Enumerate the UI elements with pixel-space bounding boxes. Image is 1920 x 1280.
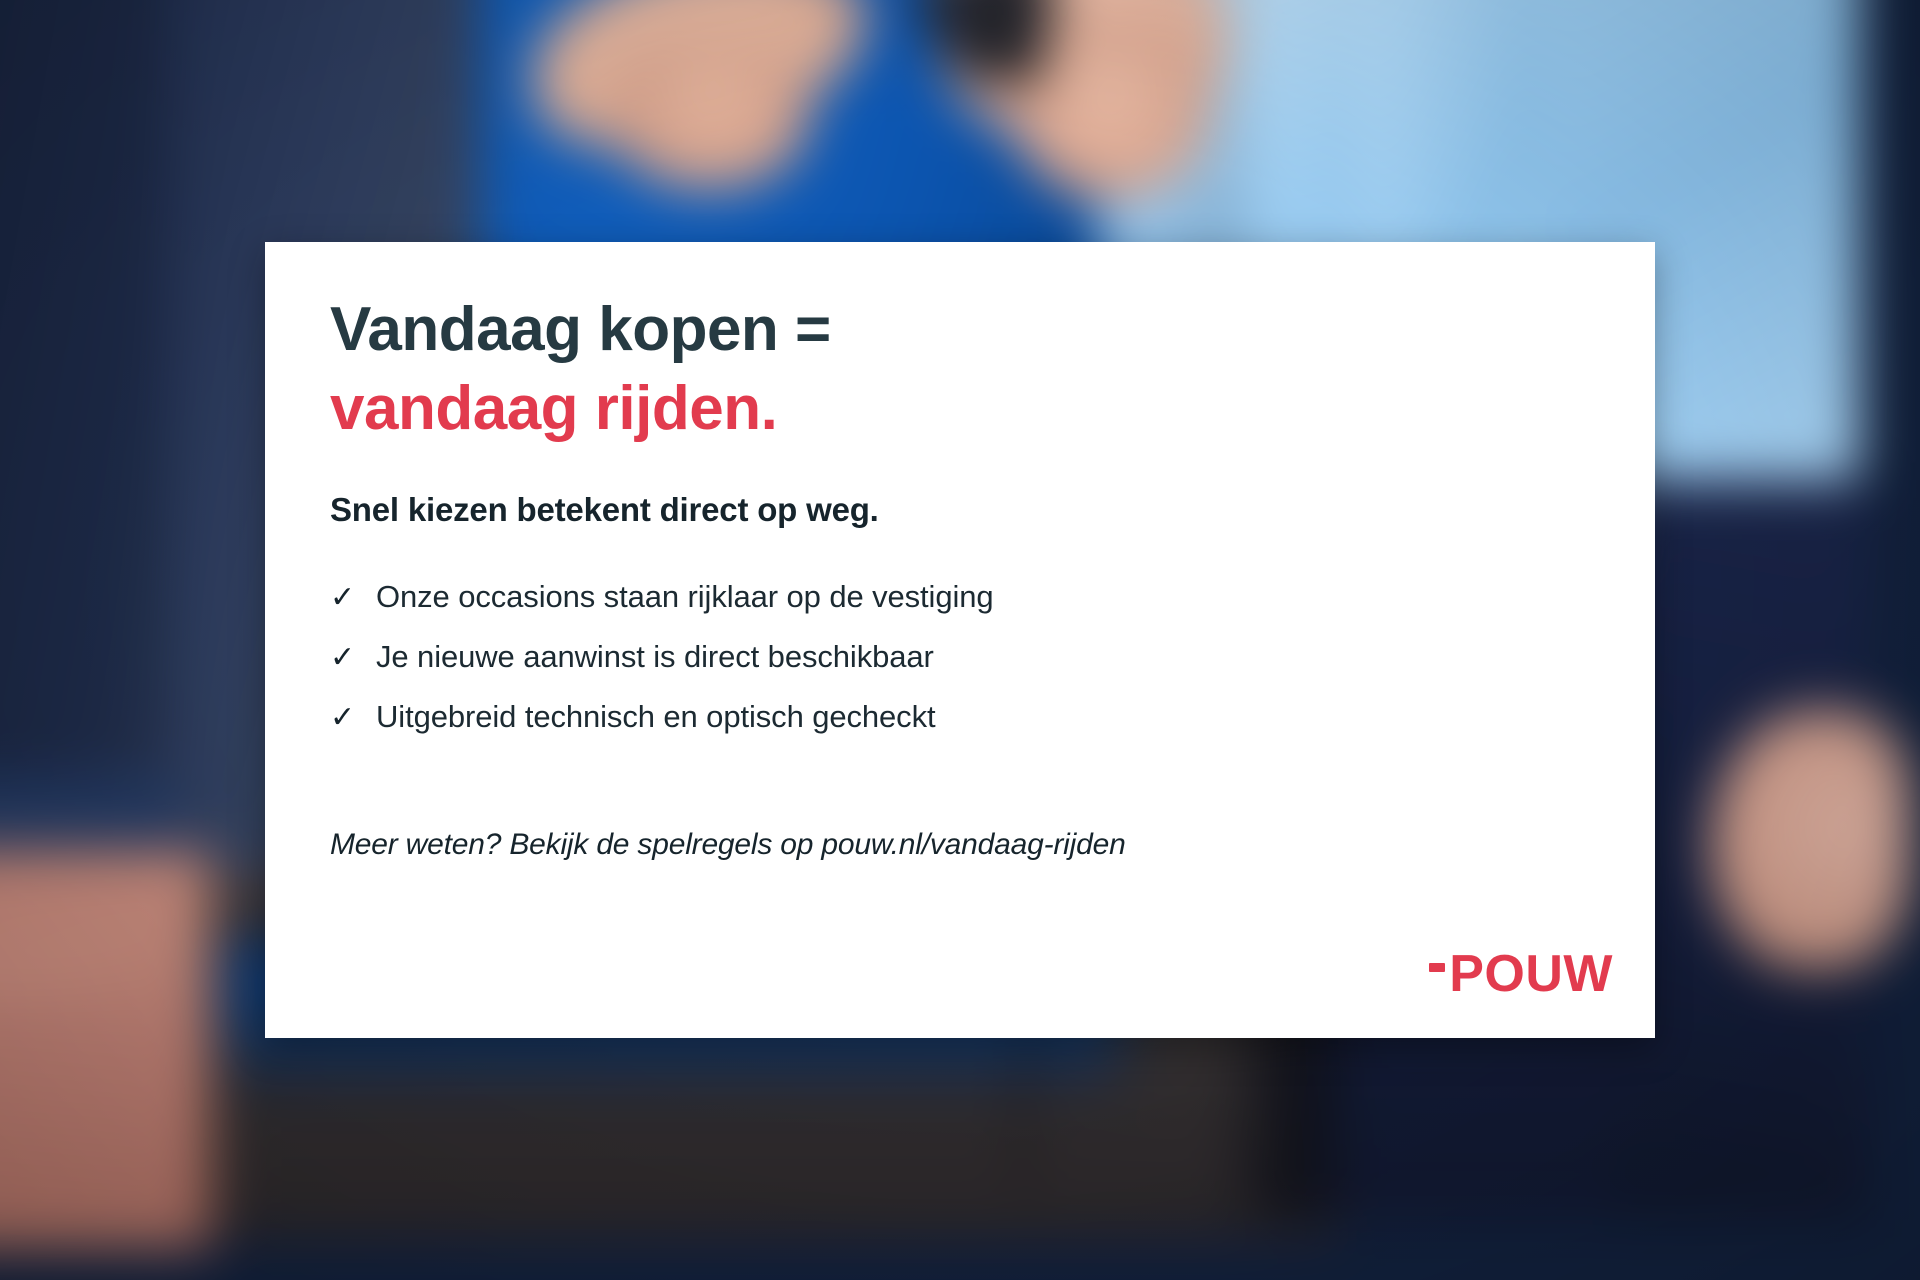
pouw-logo[interactable]: POUW bbox=[1429, 948, 1613, 1000]
bg-skin-left-lower bbox=[0, 1000, 180, 1250]
headline-line-1: Vandaag kopen = bbox=[330, 290, 831, 369]
list-item: ✓ Je nieuwe aanwinst is direct beschikba… bbox=[330, 639, 994, 675]
logo-wordmark: POUW bbox=[1449, 948, 1613, 1000]
promo-banner: Vandaag kopen = vandaag rijden. Snel kie… bbox=[0, 0, 1920, 1280]
content-card: Vandaag kopen = vandaag rijden. Snel kie… bbox=[265, 242, 1655, 1038]
card-inner: Vandaag kopen = vandaag rijden. Snel kie… bbox=[330, 242, 1605, 1038]
list-item: ✓ Uitgebreid technisch en optisch gechec… bbox=[330, 699, 994, 735]
logo-dash-icon bbox=[1429, 963, 1445, 972]
page-title: Vandaag kopen = vandaag rijden. bbox=[330, 290, 831, 449]
check-icon: ✓ bbox=[330, 583, 356, 613]
check-icon: ✓ bbox=[330, 703, 356, 733]
check-icon: ✓ bbox=[330, 643, 356, 673]
benefit-label: Je nieuwe aanwinst is direct beschikbaar bbox=[376, 639, 934, 675]
benefit-label: Onze occasions staan rijklaar op de vest… bbox=[376, 579, 994, 615]
benefits-list: ✓ Onze occasions staan rijklaar op de ve… bbox=[330, 579, 994, 759]
subheadline: Snel kiezen betekent direct op weg. bbox=[330, 491, 879, 529]
list-item: ✓ Onze occasions staan rijklaar op de ve… bbox=[330, 579, 994, 615]
benefit-label: Uitgebreid technisch en optisch gecheckt bbox=[376, 699, 936, 735]
bg-hand-right bbox=[1710, 710, 1910, 970]
headline-line-2: vandaag rijden. bbox=[330, 369, 831, 448]
footnote-text: Meer weten? Bekijk de spelregels op pouw… bbox=[330, 828, 1126, 862]
